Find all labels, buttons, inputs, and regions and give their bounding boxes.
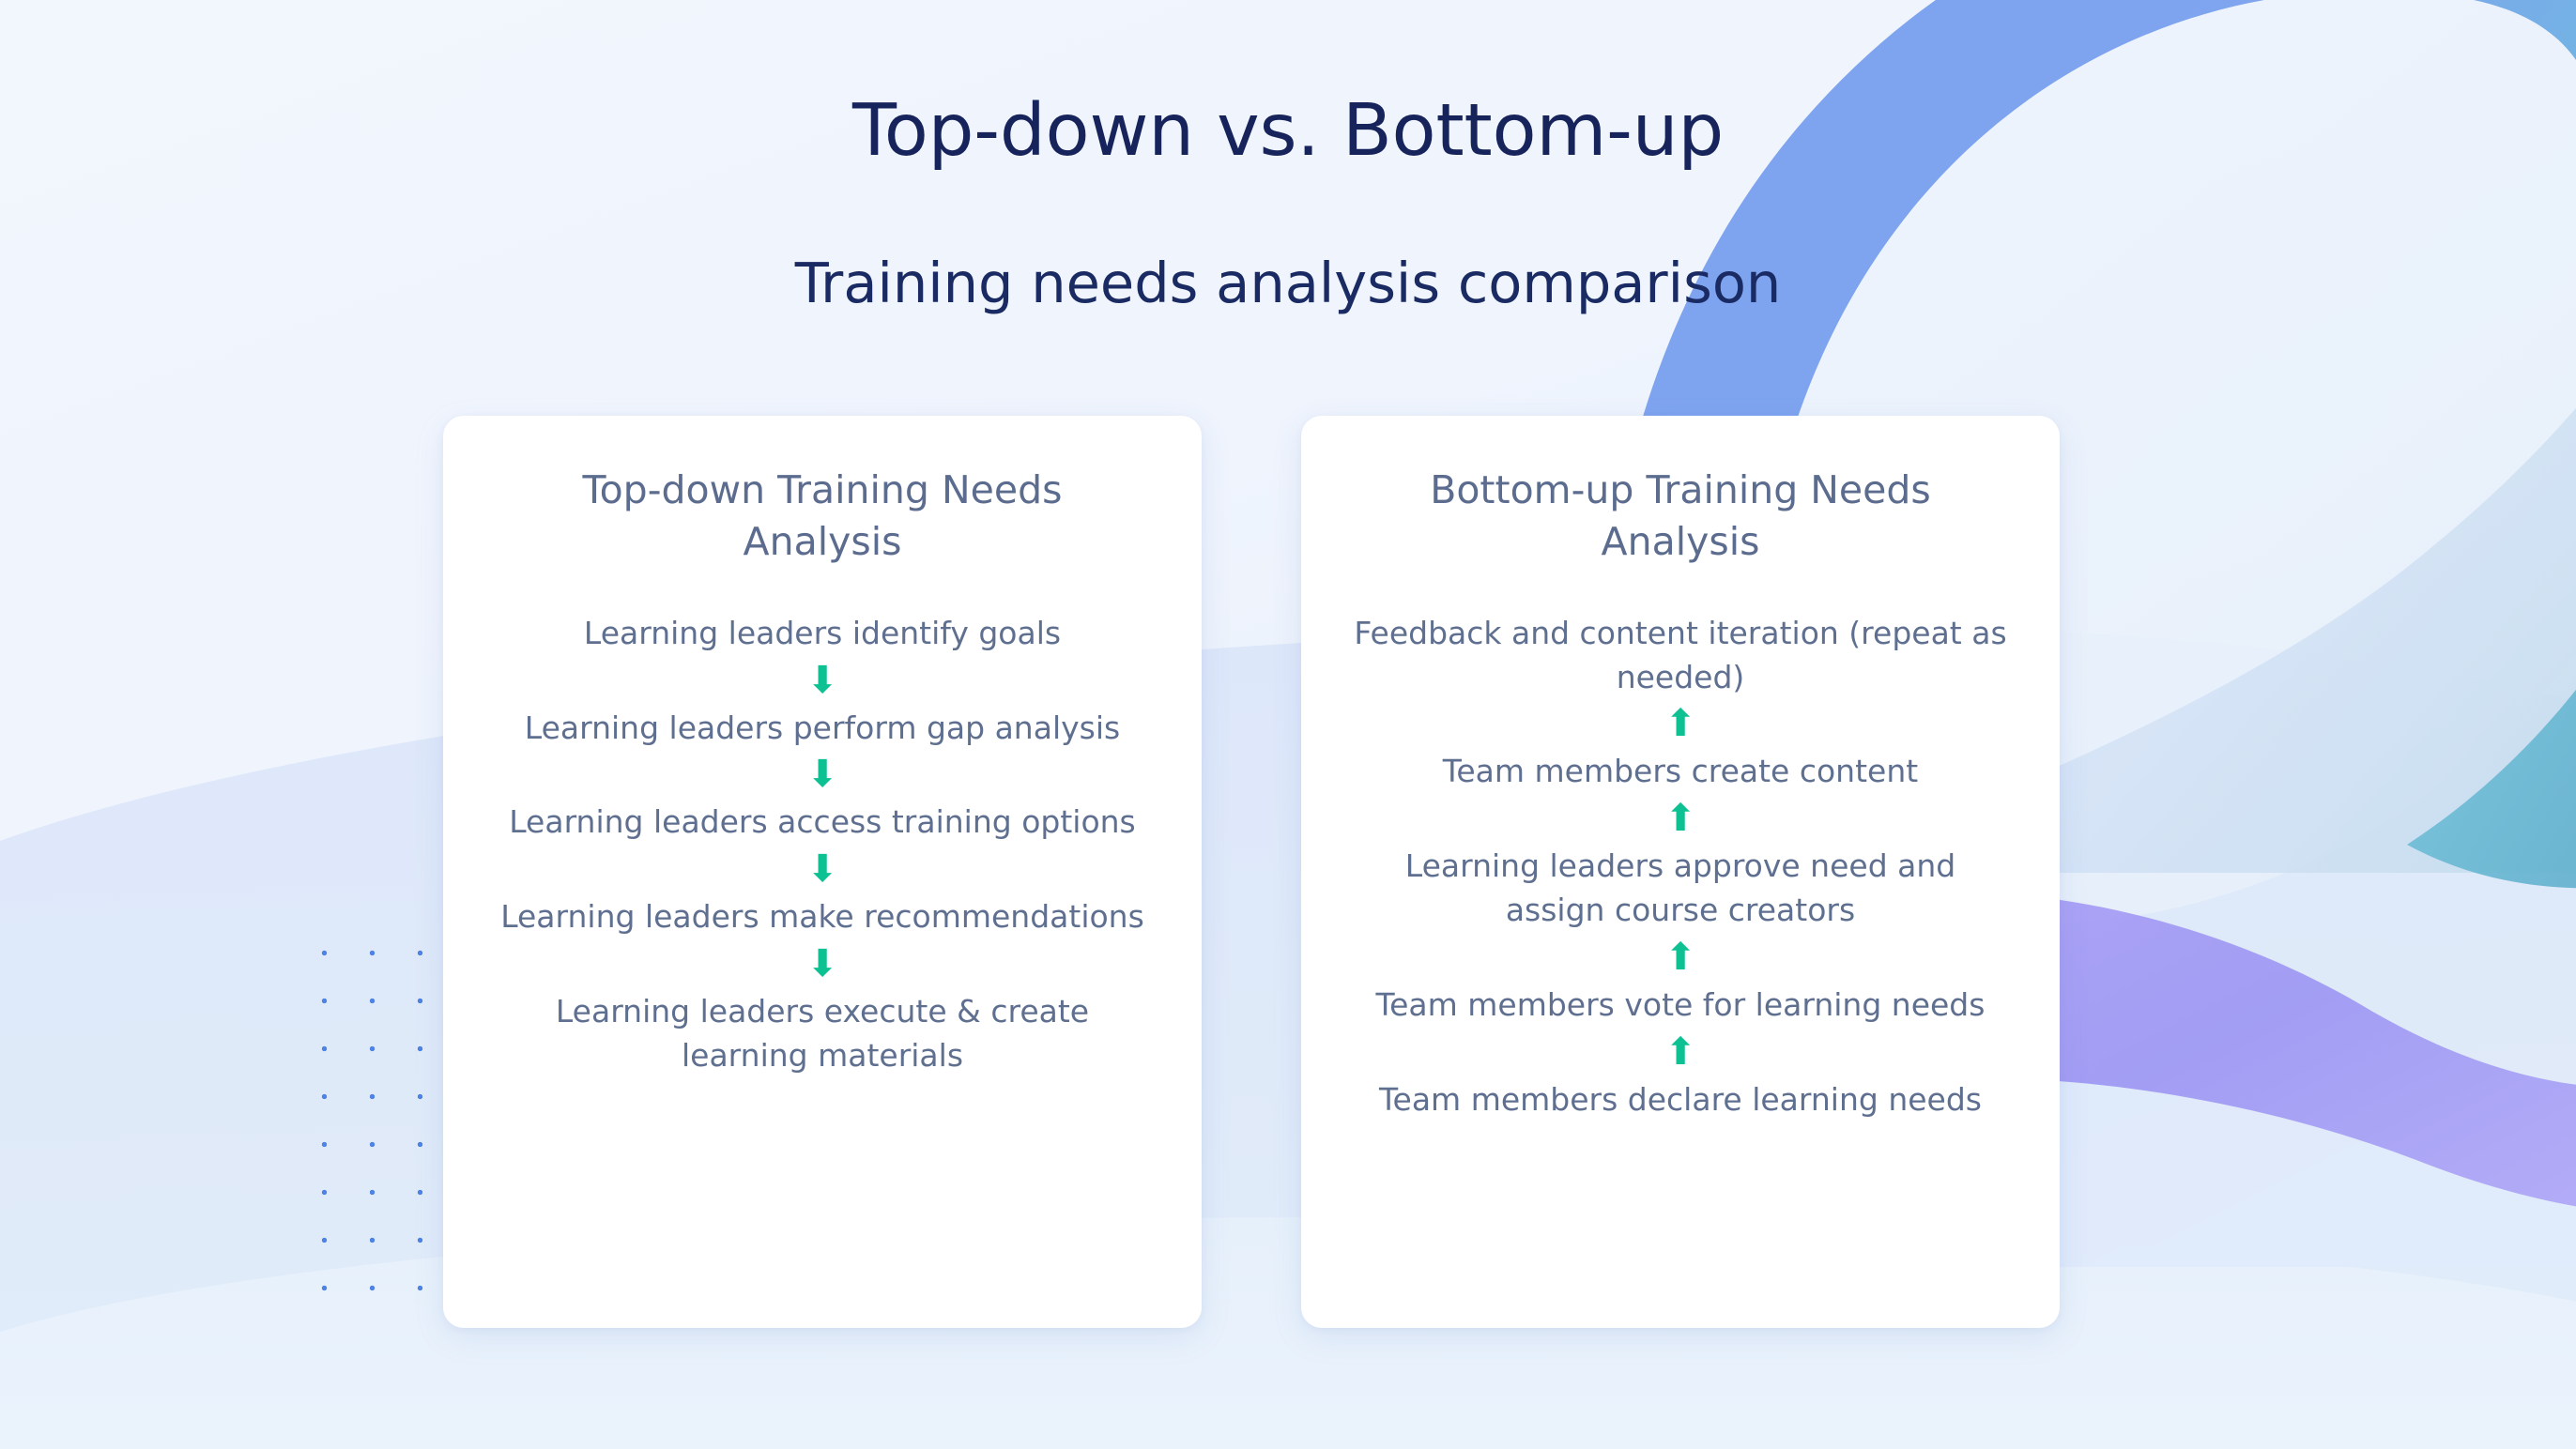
arrow-up-icon: ⬆ [1664, 1033, 1696, 1071]
card-bottom-up: Bottom-up Training Needs Analysis Feedba… [1301, 416, 2060, 1328]
flow-top-down: Learning leaders identify goals ⬇ Learni… [475, 612, 1170, 1078]
flow-step: Feedback and content iteration (repeat a… [1352, 612, 2009, 700]
flow-step: Learning leaders identify goals [584, 612, 1061, 656]
page-subtitle: Training needs analysis comparison [0, 252, 2576, 315]
page-title: Top-down vs. Bottom-up [0, 92, 2576, 172]
flow-step: Learning leaders access training options [509, 801, 1136, 845]
flow-step: Learning leaders execute & create learni… [494, 990, 1151, 1078]
card-title-top-down: Top-down Training Needs Analysis [560, 465, 1085, 569]
arrow-down-icon: ⬇ [806, 755, 838, 793]
arrow-down-icon: ⬇ [806, 662, 838, 699]
flow-step: Team members vote for learning needs [1376, 984, 1986, 1028]
arrow-up-icon: ⬆ [1664, 938, 1696, 976]
flow-step: Learning leaders approve need and assign… [1352, 845, 2009, 933]
flow-step: Learning leaders make recommendations [500, 895, 1144, 939]
comparison-cards: Top-down Training Needs Analysis Learnin… [443, 416, 2060, 1328]
arrow-down-icon: ⬇ [806, 850, 838, 888]
arrow-up-icon: ⬆ [1664, 800, 1696, 837]
arrow-up-icon: ⬆ [1664, 705, 1696, 742]
flow-step: Team members create content [1443, 750, 1918, 794]
slide-canvas: Top-down vs. Bottom-up Training needs an… [0, 0, 2576, 1449]
dot-row-bottom [299, 1350, 1125, 1363]
card-top-down: Top-down Training Needs Analysis Learnin… [443, 416, 1202, 1328]
card-title-bottom-up: Bottom-up Training Needs Analysis [1418, 465, 1943, 569]
arrow-down-icon: ⬇ [806, 945, 838, 983]
flow-bottom-up: Feedback and content iteration (repeat a… [1333, 612, 2028, 1122]
flow-step: Learning leaders perform gap analysis [525, 707, 1120, 751]
flow-step: Team members declare learning needs [1379, 1078, 1982, 1122]
dot-grid-pattern [299, 927, 439, 1321]
